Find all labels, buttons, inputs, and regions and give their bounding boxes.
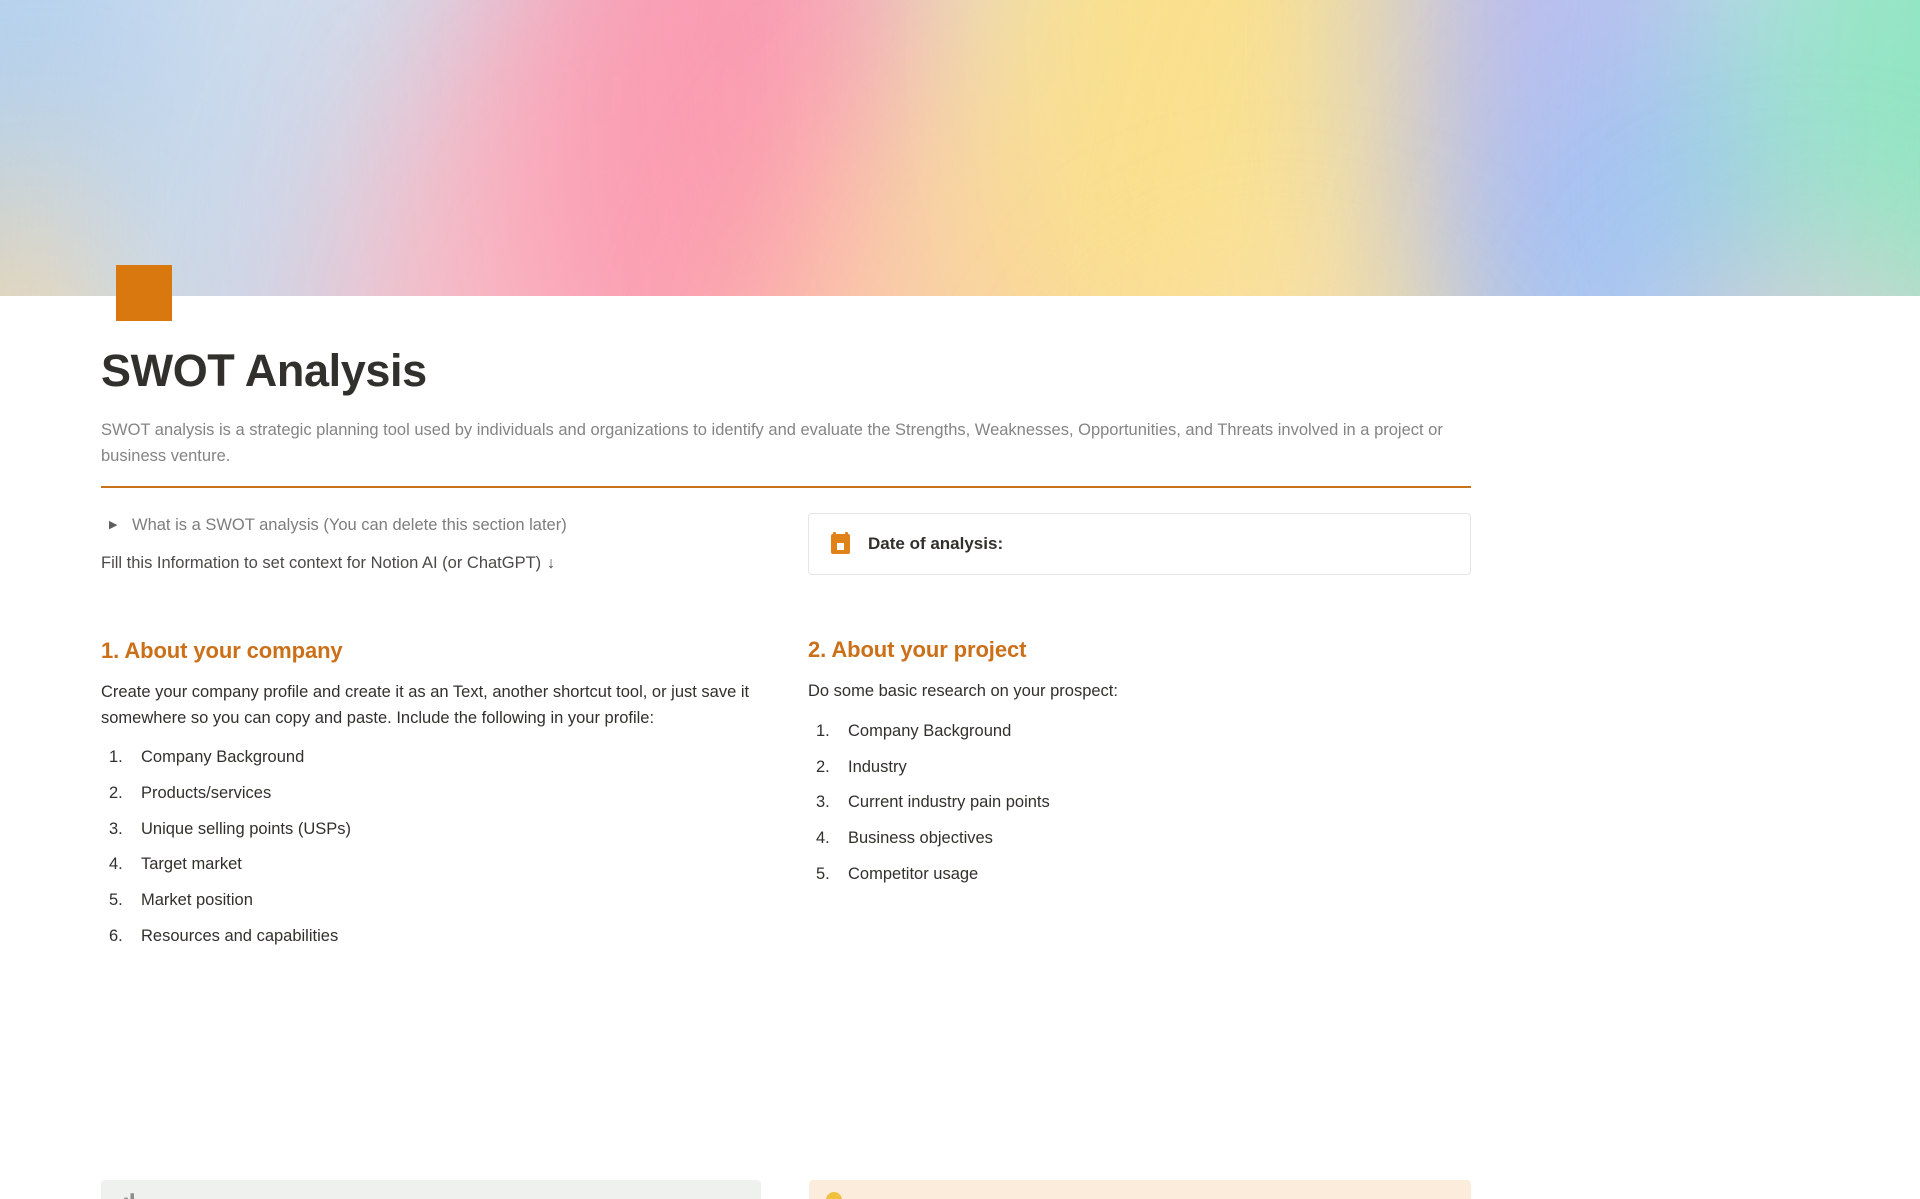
strengths-callout-card[interactable] bbox=[101, 1180, 761, 1199]
arrow-down-icon: ↓ bbox=[547, 552, 555, 576]
project-research-list: 1. Company Background 2. Industry 3. Cur… bbox=[808, 719, 1471, 887]
list-item-label: Company Background bbox=[848, 722, 1011, 740]
list-item[interactable]: 3. Current industry pain points bbox=[808, 790, 1471, 815]
company-profile-list: 1. Company Background 2. Products/servic… bbox=[101, 745, 768, 949]
list-item-label: Competitor usage bbox=[848, 865, 978, 883]
list-marker: 5. bbox=[109, 888, 133, 913]
list-item[interactable]: 2. Industry bbox=[808, 755, 1471, 780]
list-item-label: Market position bbox=[141, 891, 253, 909]
list-marker: 5. bbox=[816, 862, 840, 887]
list-marker: 1. bbox=[816, 719, 840, 744]
orange-divider bbox=[101, 486, 1471, 488]
two-column-layout: ▶ What is a SWOT analysis (You can delet… bbox=[101, 513, 1471, 959]
list-item[interactable]: 1. Company Background bbox=[808, 719, 1471, 744]
page-content: SWOT Analysis SWOT analysis is a strateg… bbox=[101, 296, 1471, 960]
list-item[interactable]: 4. Target market bbox=[101, 852, 768, 877]
list-item-label: Resources and capabilities bbox=[141, 927, 338, 945]
fill-information-hint: Fill this Information to set context for… bbox=[101, 551, 768, 576]
page-title[interactable]: SWOT Analysis bbox=[101, 344, 1471, 397]
section-heading-about-company[interactable]: 1. About your company bbox=[101, 638, 768, 664]
weaknesses-callout-card[interactable] bbox=[809, 1180, 1471, 1199]
list-item-label: Company Background bbox=[141, 748, 304, 766]
cover-gradient-mesh bbox=[0, 0, 1920, 296]
list-item-label: Industry bbox=[848, 758, 907, 776]
list-marker: 2. bbox=[816, 755, 840, 780]
list-marker: 2. bbox=[109, 781, 133, 806]
list-item[interactable]: 4. Business objectives bbox=[808, 826, 1471, 851]
section-heading-about-project[interactable]: 2. About your project bbox=[808, 637, 1471, 663]
list-item[interactable]: 2. Products/services bbox=[101, 781, 768, 806]
lightbulb-icon bbox=[826, 1192, 842, 1199]
list-marker: 3. bbox=[109, 817, 133, 842]
list-item-label: Unique selling points (USPs) bbox=[141, 820, 351, 838]
section-body-about-company[interactable]: Create your company profile and create i… bbox=[101, 680, 768, 731]
column-right: Date of analysis: 2. About your project … bbox=[808, 513, 1471, 959]
list-marker: 4. bbox=[109, 852, 133, 877]
bar-chart-icon bbox=[118, 1192, 134, 1199]
list-marker: 4. bbox=[816, 826, 840, 851]
list-marker: 3. bbox=[816, 790, 840, 815]
orange-square-icon[interactable] bbox=[116, 265, 172, 321]
list-item[interactable]: 6. Resources and capabilities bbox=[101, 924, 768, 949]
list-item-label: Target market bbox=[141, 855, 242, 873]
bottom-callout-row bbox=[101, 1180, 1471, 1199]
list-item[interactable]: 5. Competitor usage bbox=[808, 862, 1471, 887]
hint-text: Fill this Information to set context for… bbox=[101, 551, 541, 576]
list-item-label: Business objectives bbox=[848, 829, 993, 847]
calendar-icon bbox=[831, 534, 850, 554]
list-item-label: Current industry pain points bbox=[848, 793, 1050, 811]
toggle-what-is-swot[interactable]: ▶ What is a SWOT analysis (You can delet… bbox=[101, 513, 768, 543]
list-marker: 6. bbox=[109, 924, 133, 949]
toggle-label: What is a SWOT analysis (You can delete … bbox=[132, 513, 567, 538]
date-of-analysis-label: Date of analysis: bbox=[868, 534, 1003, 554]
page-description[interactable]: SWOT analysis is a strategic planning to… bbox=[101, 418, 1471, 469]
document-page: SWOT Analysis SWOT analysis is a strateg… bbox=[0, 0, 1920, 1199]
chevron-right-icon[interactable]: ▶ bbox=[109, 520, 121, 531]
column-left: ▶ What is a SWOT analysis (You can delet… bbox=[101, 513, 808, 959]
section-body-about-project[interactable]: Do some basic research on your prospect: bbox=[808, 679, 1471, 705]
list-item[interactable]: 5. Market position bbox=[101, 888, 768, 913]
list-item[interactable]: 3. Unique selling points (USPs) bbox=[101, 817, 768, 842]
list-item-label: Products/services bbox=[141, 784, 271, 802]
date-of-analysis-callout[interactable]: Date of analysis: bbox=[808, 513, 1471, 575]
page-cover-image[interactable] bbox=[0, 0, 1920, 296]
list-marker: 1. bbox=[109, 745, 133, 770]
list-item[interactable]: 1. Company Background bbox=[101, 745, 768, 770]
